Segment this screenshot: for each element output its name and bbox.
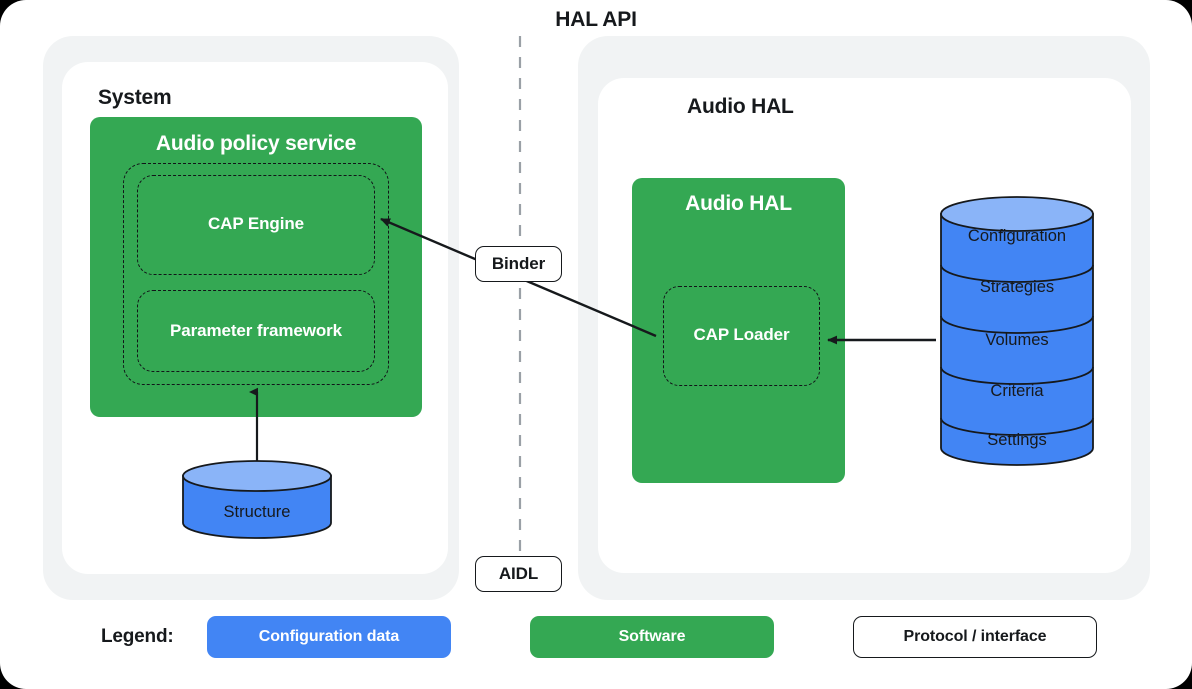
diagram-canvas: HAL API System Audio policy service CAP …: [0, 0, 1192, 689]
legend-chip-protocol-interface[interactable]: Protocol / interface: [853, 616, 1097, 658]
legend-title: Legend:: [101, 626, 174, 648]
connector-layer: [0, 0, 1192, 689]
legend-chip-configuration-data[interactable]: Configuration data: [207, 616, 451, 658]
aidl-interface-pill[interactable]: AIDL: [475, 556, 562, 592]
legend-chip-software[interactable]: Software: [530, 616, 774, 658]
binder-interface-pill[interactable]: Binder: [475, 246, 562, 282]
